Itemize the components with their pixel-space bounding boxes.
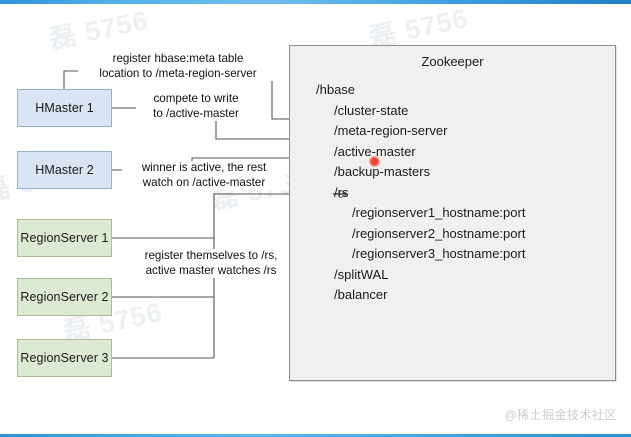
node-regionserver-2[interactable]: RegionServer 2: [17, 278, 112, 316]
node-label: HMaster 1: [35, 101, 94, 115]
znode-item[interactable]: /regionserver3_hostname:port: [316, 244, 525, 265]
znode-item[interactable]: /splitWAL: [316, 265, 525, 286]
footer-watermark: @稀土掘金技术社区: [504, 406, 617, 423]
edge-label-rs-register: register themselves to /rs,active master…: [133, 249, 289, 278]
znode-item[interactable]: /rs: [316, 183, 525, 204]
znode-item[interactable]: /regionserver1_hostname:port: [316, 203, 525, 224]
znode-item[interactable]: /balancer: [316, 285, 525, 306]
cursor-dot-icon: [369, 156, 380, 167]
node-label: RegionServer 1: [20, 231, 108, 245]
edge-label-meta-register: register hbase:meta tablelocation to /me…: [78, 52, 278, 81]
znode-item[interactable]: /meta-region-server: [316, 121, 525, 142]
znode-item[interactable]: /cluster-state: [316, 101, 525, 122]
node-label: RegionServer 2: [20, 290, 108, 304]
zookeeper-panel: Zookeeper /hbase/cluster-state/meta-regi…: [289, 45, 616, 381]
node-label: HMaster 2: [35, 163, 94, 177]
edge-label-compete-write: compete to writeto /active-master: [136, 92, 256, 121]
znode-item[interactable]: /active-master: [316, 142, 525, 163]
edge-label-winner-active: winner is active, the restwatch on /acti…: [122, 161, 286, 190]
zookeeper-znode-tree: /hbase/cluster-state/meta-region-server/…: [316, 80, 525, 306]
node-regionserver-3[interactable]: RegionServer 3: [17, 339, 112, 377]
znode-item[interactable]: /regionserver2_hostname:port: [316, 224, 525, 245]
znode-item[interactable]: /backup-masters: [316, 162, 525, 183]
diagram-canvas: 磊 5756 磊 5756 磊 5756 磊 5756 磊 5756 磊 575…: [0, 0, 631, 437]
zookeeper-title: Zookeeper: [290, 54, 615, 69]
node-regionserver-1[interactable]: RegionServer 1: [17, 219, 112, 257]
node-hmaster-1[interactable]: HMaster 1: [17, 89, 112, 127]
node-hmaster-2[interactable]: HMaster 2: [17, 151, 112, 189]
node-label: RegionServer 3: [20, 351, 108, 365]
znode-item[interactable]: /hbase: [316, 80, 525, 101]
